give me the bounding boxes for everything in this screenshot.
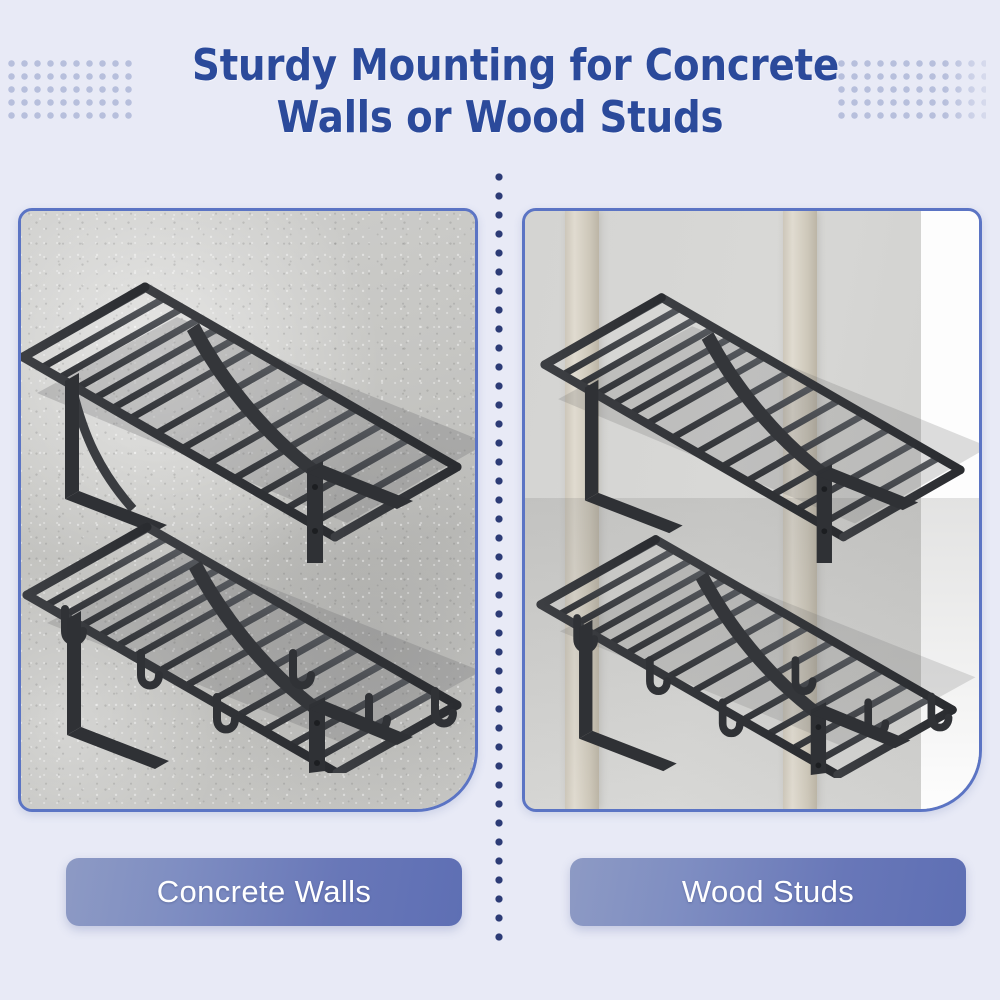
shelf-unit-lower-with-hooks-icon — [535, 523, 982, 778]
dot-grid-decoration-left-icon — [8, 60, 138, 122]
shelf-product-wood-studs — [525, 211, 979, 809]
dot-grid-decoration-right-icon — [838, 60, 986, 122]
header-banner: Sturdy Mounting for Concrete Walls or Wo… — [0, 0, 1000, 172]
shelf-product-concrete — [21, 211, 475, 809]
vertical-dotted-divider — [494, 172, 504, 942]
shelf-unit-lower-with-hooks-icon — [21, 513, 478, 773]
caption-label-wood-studs: Wood Studs — [682, 874, 854, 910]
panel-concrete-walls — [18, 208, 478, 812]
page-title-line-2: Walls or Wood Studs — [192, 92, 808, 144]
panel-wood-studs — [522, 208, 982, 812]
caption-pill-wood-studs: Wood Studs — [570, 858, 966, 926]
caption-label-concrete-walls: Concrete Walls — [157, 874, 372, 910]
shelf-unit-upper-icon — [539, 283, 982, 563]
page-title-line-1: Sturdy Mounting for Concrete — [192, 40, 808, 92]
page-title: Sturdy Mounting for Concrete Walls or Wo… — [192, 40, 808, 144]
caption-pill-concrete-walls: Concrete Walls — [66, 858, 462, 926]
